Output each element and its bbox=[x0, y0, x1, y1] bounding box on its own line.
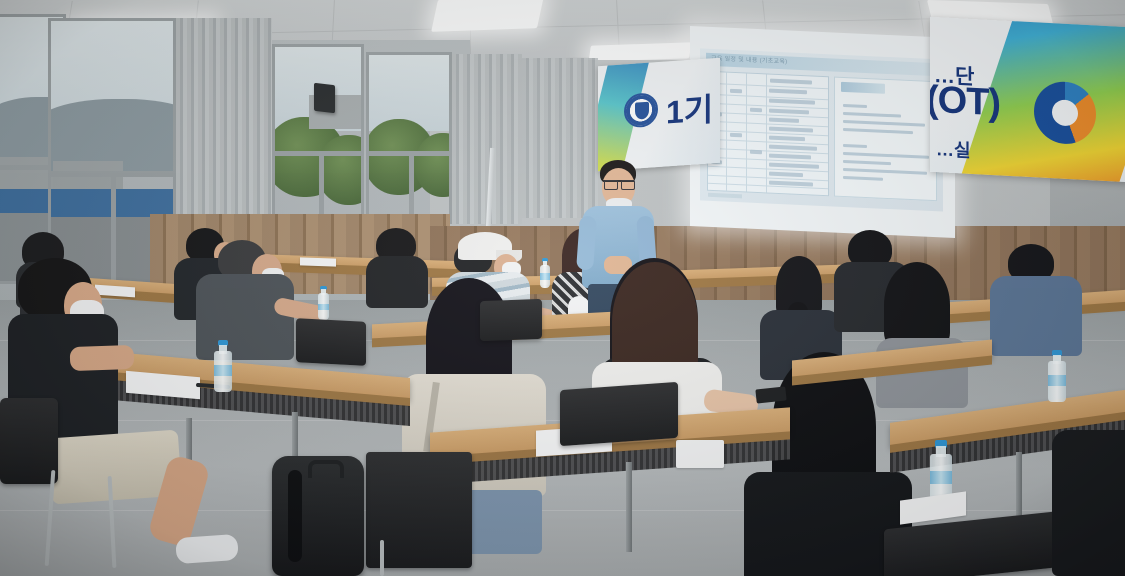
bottle-body bbox=[1048, 361, 1066, 402]
torso bbox=[366, 256, 428, 308]
stacking-chair bbox=[560, 382, 678, 446]
banner-left: 1기 bbox=[598, 58, 720, 172]
bottle-label bbox=[318, 304, 329, 311]
water-bottle bbox=[214, 340, 232, 392]
window-center-2 bbox=[366, 52, 452, 224]
banner-right-line2: (OT) bbox=[930, 79, 1000, 126]
bottle-label bbox=[540, 273, 550, 279]
water-bottle bbox=[540, 258, 550, 288]
classroom-photo: 교육 일정 및 내용 (기초교육) bbox=[0, 0, 1125, 576]
slide-footer bbox=[708, 193, 742, 199]
stacking-chair bbox=[296, 318, 366, 366]
banner-left-text: 1기 bbox=[666, 84, 713, 133]
stacking-chair bbox=[480, 299, 542, 341]
water-bottle bbox=[1048, 350, 1066, 402]
banner-right-line3: …실 bbox=[936, 135, 971, 163]
bottle-label bbox=[214, 365, 232, 376]
hair bbox=[884, 262, 950, 348]
bottle-label bbox=[930, 471, 952, 484]
torso bbox=[1052, 430, 1125, 576]
window-mullion bbox=[111, 171, 116, 286]
slide-note-box bbox=[834, 77, 937, 202]
presentation-slide: 교육 일정 및 내용 (기초교육) bbox=[700, 48, 943, 211]
slide-table bbox=[707, 71, 829, 197]
glasses-icon bbox=[621, 180, 635, 190]
arm bbox=[70, 345, 135, 371]
banner-right: …단 (OT) …실 bbox=[930, 17, 1125, 182]
backpack-handle bbox=[308, 460, 344, 478]
water-bottle bbox=[318, 286, 329, 320]
glasses-icon bbox=[604, 180, 618, 190]
bottle-body bbox=[318, 293, 329, 320]
bottle-body bbox=[540, 265, 550, 288]
slide-note-header bbox=[841, 82, 885, 94]
bottle-body bbox=[214, 351, 232, 392]
backpack-strap bbox=[288, 470, 302, 562]
torso bbox=[990, 276, 1082, 356]
tissue-box bbox=[676, 440, 724, 468]
shoe bbox=[175, 534, 239, 564]
table-leg bbox=[626, 462, 632, 552]
ceiling-light bbox=[431, 0, 544, 32]
wall-speaker-icon bbox=[314, 83, 335, 114]
handout-paper bbox=[300, 257, 336, 266]
bottle-label bbox=[1048, 375, 1066, 386]
backpack bbox=[272, 456, 364, 576]
stacking-chair bbox=[0, 398, 58, 484]
curtain-left bbox=[176, 18, 272, 218]
window-center-1 bbox=[272, 44, 364, 224]
tree bbox=[317, 135, 364, 205]
university-seal-icon bbox=[624, 92, 658, 128]
curtain-right bbox=[522, 58, 598, 218]
projection-screen: 교육 일정 및 내용 (기초교육) bbox=[690, 26, 955, 238]
torso bbox=[196, 274, 294, 360]
chair-leg bbox=[380, 540, 384, 576]
